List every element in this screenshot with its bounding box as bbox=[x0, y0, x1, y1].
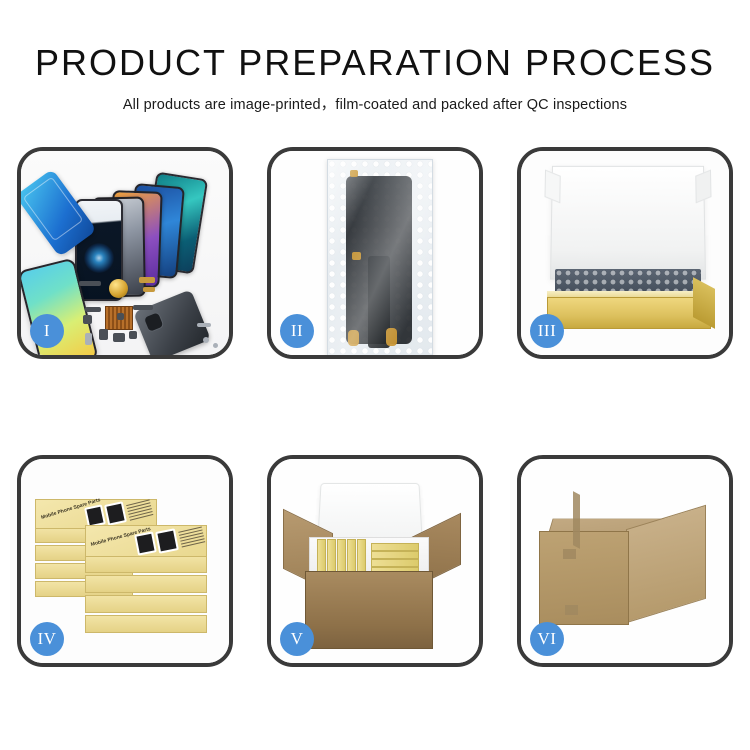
step-badge-1: I bbox=[30, 314, 64, 348]
box-text-lines bbox=[126, 499, 154, 522]
process-steps-grid: I II bbox=[0, 130, 750, 730]
process-row-2: Mobile Phone Spare Parts bbox=[0, 430, 750, 730]
carton-seam-icon bbox=[573, 491, 580, 549]
step-badge-5: V bbox=[280, 622, 314, 656]
part-icon bbox=[197, 323, 211, 327]
step-panel-1: I bbox=[17, 147, 233, 359]
header: PRODUCT PREPARATION PROCESS All products… bbox=[0, 0, 750, 114]
page-title: PRODUCT PREPARATION PROCESS bbox=[0, 44, 750, 82]
box-art-screen bbox=[104, 501, 127, 525]
step-panel-4: Mobile Phone Spare Parts bbox=[17, 455, 233, 667]
connector-icon bbox=[386, 328, 397, 346]
stacked-box bbox=[85, 615, 207, 633]
stacked-box bbox=[85, 555, 207, 573]
step-badge-2: II bbox=[280, 314, 314, 348]
screw-icon bbox=[213, 343, 218, 348]
white-foam-lid-icon bbox=[550, 166, 706, 280]
step-panel-6: VI bbox=[517, 455, 733, 667]
stacked-box bbox=[85, 575, 207, 593]
foam-lid-icon bbox=[317, 483, 422, 541]
part-icon bbox=[133, 305, 153, 310]
connector-icon bbox=[348, 330, 359, 346]
part-icon bbox=[143, 287, 155, 292]
box-text-lines bbox=[178, 527, 205, 550]
kraft-box-front-icon bbox=[547, 297, 711, 329]
step-panel-5: V bbox=[267, 455, 483, 667]
page-subtitle: All products are image-printed，film-coat… bbox=[0, 93, 750, 114]
step-panel-2: II bbox=[267, 147, 483, 359]
part-icon bbox=[85, 307, 101, 312]
step-panel-3: III bbox=[517, 147, 733, 359]
step-badge-4: IV bbox=[30, 622, 64, 656]
step-badge-6: VI bbox=[530, 622, 564, 656]
tape-tab-icon bbox=[350, 170, 358, 177]
bubble-wrap-bag-icon bbox=[327, 159, 433, 357]
part-icon bbox=[139, 277, 155, 283]
part-icon bbox=[85, 333, 92, 345]
tape-patch-icon bbox=[565, 605, 578, 615]
wireless-coil-icon bbox=[109, 279, 128, 298]
inner-boxes-icon bbox=[315, 539, 421, 575]
carton-front-icon bbox=[539, 531, 629, 625]
part-icon bbox=[79, 281, 101, 286]
part-icon bbox=[129, 331, 137, 339]
part-icon bbox=[113, 333, 125, 342]
box-art-screen bbox=[134, 531, 157, 555]
box-art-screen bbox=[155, 528, 179, 553]
process-row-1: I II bbox=[0, 130, 750, 430]
product-preparation-infographic: PRODUCT PREPARATION PROCESS All products… bbox=[0, 0, 750, 750]
part-icon bbox=[99, 329, 108, 340]
stacked-box bbox=[85, 595, 207, 613]
carton-body-icon bbox=[305, 571, 433, 649]
screw-icon bbox=[203, 337, 209, 343]
part-icon bbox=[117, 313, 124, 320]
stacked-box-printed: Mobile Phone Spare Parts bbox=[85, 525, 207, 557]
tape-patch-icon bbox=[563, 549, 576, 559]
part-icon bbox=[83, 315, 92, 324]
step-badge-3: III bbox=[530, 314, 564, 348]
tape-tab-icon bbox=[352, 252, 361, 260]
